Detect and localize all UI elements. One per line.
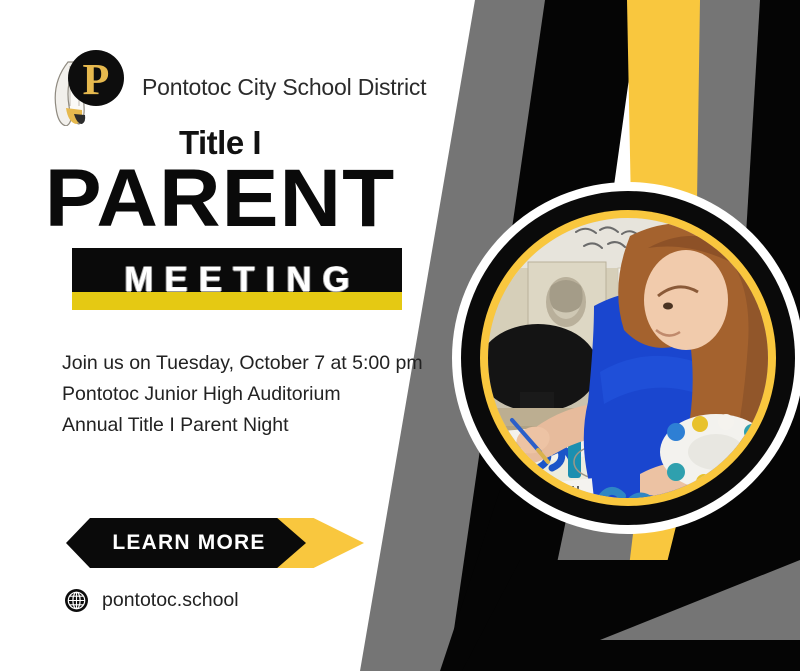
watch — [706, 478, 732, 508]
footer-website[interactable]: pontotoc.school — [64, 588, 239, 613]
headline-main: PARENT — [0, 158, 449, 240]
ribbon-black-right — [640, 430, 800, 671]
cta-black-body[interactable]: LEARN MORE — [66, 518, 306, 568]
detail-line-event: Annual Title I Parent Night — [62, 410, 442, 441]
band-black-1 — [448, 0, 640, 671]
globe-icon — [64, 588, 89, 613]
ribbon-gray-tail — [600, 560, 800, 640]
hand-right — [640, 462, 712, 495]
headline-band: MEETING — [72, 248, 402, 310]
ribbon-black-left — [440, 400, 640, 671]
brand-logo-row: P Pontotoc City School District — [48, 52, 426, 122]
band-yellow-1 — [627, 0, 800, 671]
sweatshirt — [584, 291, 748, 512]
hair-front — [648, 236, 761, 314]
ribbon-yellow — [625, 410, 740, 600]
headline-band-text: MEETING — [72, 248, 402, 310]
ribbon-black-bottom — [462, 560, 800, 671]
arm-left — [520, 402, 632, 464]
ribbon-gray-mid — [545, 430, 700, 620]
detail-line-datetime: Join us on Tuesday, October 7 at 5:00 pm — [62, 348, 442, 379]
learn-more-button[interactable]: LEARN MORE — [66, 518, 366, 568]
chair — [478, 324, 598, 412]
cta-label: LEARN MORE — [112, 531, 265, 555]
face — [644, 250, 728, 350]
detail-line-location: Pontotoc Junior High Auditorium — [62, 379, 442, 410]
medallion-black-ring — [461, 191, 795, 525]
paintbrush — [512, 420, 540, 452]
pontotoc-warrior-p-logo: P — [48, 48, 130, 126]
medallion-yellow-ring — [480, 210, 776, 506]
blue-paint — [500, 438, 572, 492]
poster-flyer: P Pontotoc City School District Title I … — [0, 0, 800, 671]
medallion-white-ring — [452, 182, 800, 534]
event-details: Join us on Tuesday, October 7 at 5:00 pm… — [62, 348, 442, 441]
hair — [618, 223, 762, 460]
paint-palette — [660, 414, 772, 490]
band-black-2 — [720, 0, 800, 671]
district-name: Pontotoc City School District — [142, 74, 426, 101]
student-photo — [478, 218, 776, 512]
paper — [490, 420, 666, 498]
band-gray-2 — [690, 0, 800, 671]
logo-letter-p: P — [83, 55, 110, 104]
website-url: pontotoc.school — [102, 589, 239, 612]
